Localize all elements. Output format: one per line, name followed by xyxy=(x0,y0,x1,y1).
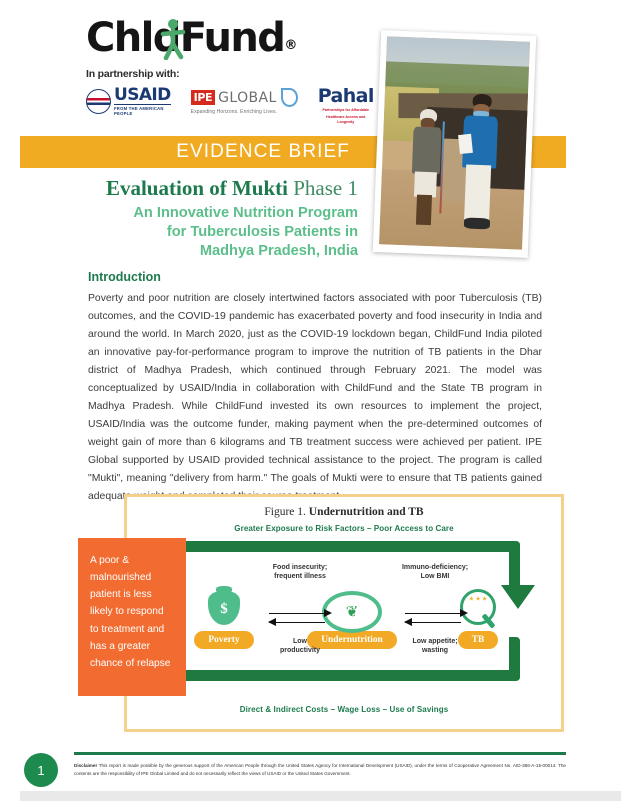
node-poverty-label: Poverty xyxy=(194,631,253,649)
cover-photo xyxy=(373,30,536,258)
label-low-productivity-line2: productivity xyxy=(260,646,340,655)
page-title-phase: Phase 1 xyxy=(293,176,358,200)
figure-1-bottom-label: Direct & Indirect Costs – Wage Loss – Us… xyxy=(127,705,561,714)
usaid-seal-icon xyxy=(86,89,111,114)
document-title-block: Evaluation of Mukti Phase 1 An Innovativ… xyxy=(40,176,358,262)
money-bag-icon xyxy=(179,589,269,629)
pahal-tagline-line2: Healthcare Access and Longevity xyxy=(318,115,374,125)
figure-1-caption: Figure 1. Undernutrition and TB xyxy=(127,506,561,518)
pahal-wordmark: Pahal xyxy=(318,87,374,106)
footer-divider xyxy=(74,752,566,755)
cover-photo-image xyxy=(379,36,530,249)
pahal-tagline-line1: Partnerships for Affordable xyxy=(318,108,374,113)
connector-poverty-undernutrition xyxy=(269,611,331,629)
label-food-insecurity-line1: Food insecurity; xyxy=(260,563,340,572)
introduction-heading: Introduction xyxy=(88,270,161,284)
label-low-appetite: Low appetite; wasting xyxy=(395,637,475,656)
label-low-appetite-line2: wasting xyxy=(395,646,475,655)
usaid-logo: USAID FROM THE AMERICAN PEOPLE xyxy=(86,87,171,116)
brand-header: ChldFund® In partnership with: USAID FRO… xyxy=(86,18,336,125)
page-subtitle-line2: for Tuberculosis Patients in xyxy=(40,223,358,242)
page-title-bold: Evaluation of Mukti xyxy=(106,176,288,200)
page-subtitle-line3: Madhya Pradesh, India xyxy=(40,242,358,261)
usaid-wordmark: USAID xyxy=(114,87,171,103)
partnership-label: In partnership with: xyxy=(86,68,336,80)
pull-quote-callout: A poor & malnourished patient is less li… xyxy=(78,538,186,696)
partner-logo-row: USAID FROM THE AMERICAN PEOPLE IPE GLOBA… xyxy=(86,87,336,125)
node-poverty: Poverty xyxy=(179,589,269,649)
bottom-band xyxy=(0,791,621,801)
page-subtitle: An Innovative Nutrition Program for Tube… xyxy=(40,204,358,262)
disclaimer-text: This report is made possible by the gene… xyxy=(74,763,566,776)
page-subtitle-line1: An Innovative Nutrition Program xyxy=(40,204,358,223)
footer-disclaimer: Disclaimer This report is made possible … xyxy=(74,762,566,778)
label-immuno-deficiency: Immuno-deficiency; Low BMI xyxy=(395,563,475,582)
usaid-tagline: FROM THE AMERICAN PEOPLE xyxy=(114,104,171,116)
document-page: ChldFund® In partnership with: USAID FRO… xyxy=(0,0,621,801)
label-food-insecurity: Food insecurity; frequent illness xyxy=(260,563,340,582)
disclaimer-label: Disclaimer xyxy=(74,763,97,768)
figure-1-caption-title: Undernutrition and TB xyxy=(309,506,424,518)
ipe-global-wordmark: GLOBAL xyxy=(218,90,277,106)
childfund-person-icon xyxy=(160,18,186,60)
label-low-productivity-line1: Low xyxy=(260,637,340,646)
label-immuno-deficiency-line1: Immuno-deficiency; xyxy=(395,563,475,572)
childfund-logo-text-part1: Ch xyxy=(86,15,141,61)
introduction-body: Poverty and poor nutrition are closely i… xyxy=(88,290,542,506)
ipe-swirl-icon xyxy=(281,88,298,107)
connector-undernutrition-tb xyxy=(405,611,467,629)
ipe-mark: IPE xyxy=(191,90,215,105)
figure-1-card: Figure 1. Undernutrition and TB Greater … xyxy=(124,494,564,732)
evidence-brief-label: EVIDENCE BRIEF xyxy=(176,141,350,163)
pahal-logo: Pahal Partnerships for Affordable Health… xyxy=(318,87,374,125)
registered-trademark-icon: ® xyxy=(284,38,297,53)
childfund-logo: ChldFund® xyxy=(86,18,336,58)
label-immuno-deficiency-line2: Low BMI xyxy=(395,572,475,581)
page-number-badge: 1 xyxy=(24,753,58,787)
label-low-appetite-line1: Low appetite; xyxy=(395,637,475,646)
figure-1-top-label: Greater Exposure to Risk Factors – Poor … xyxy=(127,524,561,533)
ipe-global-logo: IPE GLOBAL Expanding Horizons. Enriching… xyxy=(191,87,298,115)
page-title: Evaluation of Mukti Phase 1 xyxy=(40,176,358,201)
ipe-tagline: Expanding Horizons. Enriching Lives. xyxy=(191,109,298,115)
label-food-insecurity-line2: frequent illness xyxy=(260,572,340,581)
figure-1-diagram: Poverty ❦ Undernutrition ٭ ٭ ٭ TB xyxy=(127,533,561,703)
label-low-productivity: Low productivity xyxy=(260,637,340,656)
left-margin-edge xyxy=(0,0,20,801)
figure-1-caption-prefix: Figure 1. xyxy=(264,506,306,518)
